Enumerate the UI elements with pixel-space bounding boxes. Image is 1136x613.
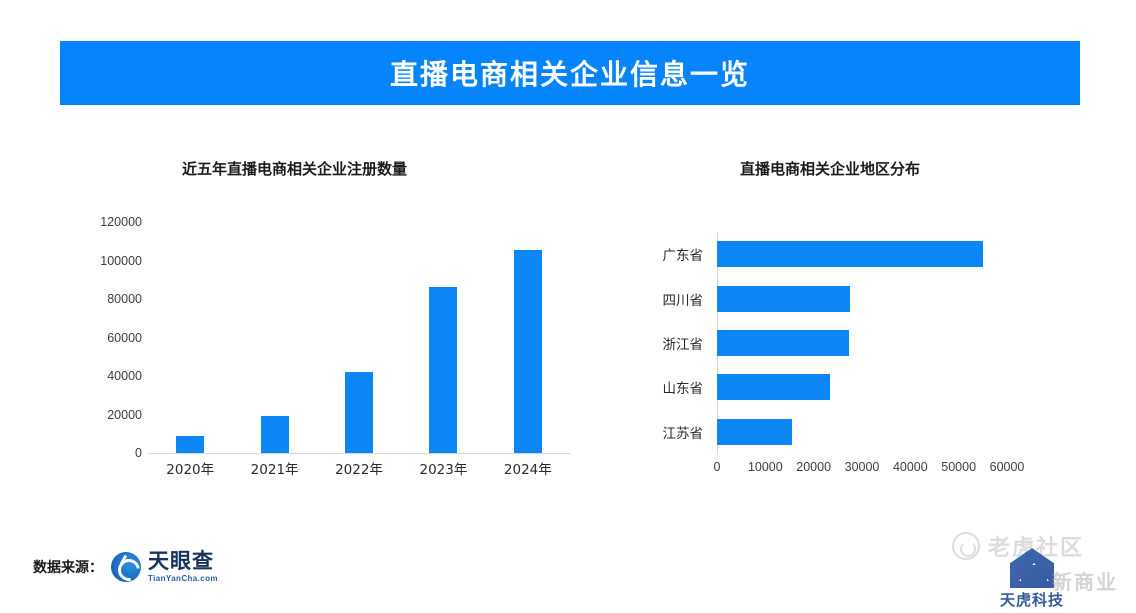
chart-regions-bars: 广东省四川省浙江省山东省江苏省 xyxy=(717,232,1007,454)
x-label-slot: 2024年 xyxy=(486,458,570,479)
chart-registrations: 近五年直播电商相关企业注册数量 020000400006000080000100… xyxy=(90,150,590,500)
x-tick-label: 2021年 xyxy=(251,462,299,478)
data-source-label: 数据来源： xyxy=(33,557,103,577)
bar-row: 四川省 xyxy=(717,286,1007,312)
y-tick-label: 0 xyxy=(135,446,142,460)
tianyancha-logo-cn: 天眼查 xyxy=(148,551,218,572)
bar-row: 江苏省 xyxy=(717,419,1007,445)
bar-row: 山东省 xyxy=(717,374,1007,400)
bar-广东省[interactable] xyxy=(717,241,983,267)
chart-regions-plot: 广东省四川省浙江省山东省江苏省 010000200003000040000500… xyxy=(717,232,1007,454)
infographic-page: 直播电商相关企业信息一览 近五年直播电商相关企业注册数量 02000040000… xyxy=(0,0,1136,613)
tianyancha-logo-icon xyxy=(111,552,141,582)
bar-2022年[interactable] xyxy=(345,372,373,453)
page-title: 直播电商相关企业信息一览 xyxy=(390,53,750,93)
y-tick-label: 40000 xyxy=(107,369,142,383)
bar-浙江省[interactable] xyxy=(717,330,849,356)
bar-slot xyxy=(401,222,485,453)
x-tick-label: 0 xyxy=(714,460,721,474)
y-tick-label: 20000 xyxy=(107,408,142,422)
bar-四川省[interactable] xyxy=(717,286,850,312)
x-tick-label: 2020年 xyxy=(166,462,214,478)
bar-slot xyxy=(486,222,570,453)
x-tick-label: 40000 xyxy=(893,460,928,474)
x-label-slot: 2021年 xyxy=(232,458,316,479)
bar-slot xyxy=(148,222,232,453)
category-label: 山东省 xyxy=(663,377,704,397)
x-label-slot: 2023年 xyxy=(401,458,485,479)
x-label-slot: 2022年 xyxy=(317,458,401,479)
bar-row: 广东省 xyxy=(717,241,1007,267)
data-source: 数据来源： 天眼查 TianYanCha.com xyxy=(33,551,218,583)
chart-registrations-bars xyxy=(148,222,570,453)
chart-registrations-y-axis: 020000400006000080000100000120000 xyxy=(90,222,142,454)
y-tick-label: 100000 xyxy=(100,254,142,268)
category-label: 四川省 xyxy=(663,289,704,309)
x-tick-label: 2022年 xyxy=(335,462,383,478)
chart-regions-x-axis: 0100002000030000400005000060000 xyxy=(717,460,1007,480)
chart-registrations-baseline xyxy=(148,453,570,454)
chart-registrations-plot: 020000400006000080000100000120000 2020年2… xyxy=(148,222,570,454)
bar-江苏省[interactable] xyxy=(717,419,792,445)
category-label: 浙江省 xyxy=(663,333,704,353)
x-tick-label: 10000 xyxy=(748,460,783,474)
bar-row: 浙江省 xyxy=(717,330,1007,356)
tianyancha-logo: 天眼查 TianYanCha.com xyxy=(111,551,218,583)
bar-slot xyxy=(232,222,316,453)
watermark-circle-icon xyxy=(952,532,980,560)
x-tick-label: 30000 xyxy=(845,460,880,474)
category-label: 广东省 xyxy=(663,244,704,264)
x-label-slot: 2020年 xyxy=(148,458,232,479)
bar-slot xyxy=(317,222,401,453)
y-tick-label: 80000 xyxy=(107,292,142,306)
x-tick-label: 2024年 xyxy=(504,462,552,478)
chart-regions: 直播电商相关企业地区分布 广东省四川省浙江省山东省江苏省 01000020000… xyxy=(640,150,1060,510)
x-tick-label: 2023年 xyxy=(419,462,467,478)
y-tick-label: 120000 xyxy=(100,215,142,229)
category-label: 江苏省 xyxy=(663,422,704,442)
bar-2023年[interactable] xyxy=(429,287,457,454)
chart-regions-title: 直播电商相关企业地区分布 xyxy=(740,158,920,179)
chart-registrations-title: 近五年直播电商相关企业注册数量 xyxy=(182,158,407,179)
watermark-xinshangye-text: 新商业 xyxy=(1052,566,1118,595)
bar-2021年[interactable] xyxy=(261,416,289,453)
x-tick-label: 50000 xyxy=(941,460,976,474)
bar-2020年[interactable] xyxy=(176,436,204,453)
bar-2024年[interactable] xyxy=(514,250,542,453)
chart-registrations-x-axis: 2020年2021年2022年2023年2024年 xyxy=(148,458,570,479)
x-tick-label: 20000 xyxy=(796,460,831,474)
header-banner: 直播电商相关企业信息一览 xyxy=(60,41,1080,105)
y-tick-label: 60000 xyxy=(107,331,142,345)
watermark-shield-icon xyxy=(1010,548,1054,588)
tianyancha-logo-text: 天眼查 TianYanCha.com xyxy=(148,551,218,583)
bar-山东省[interactable] xyxy=(717,374,830,400)
tianyancha-logo-en: TianYanCha.com xyxy=(148,575,218,583)
x-tick-label: 60000 xyxy=(990,460,1025,474)
